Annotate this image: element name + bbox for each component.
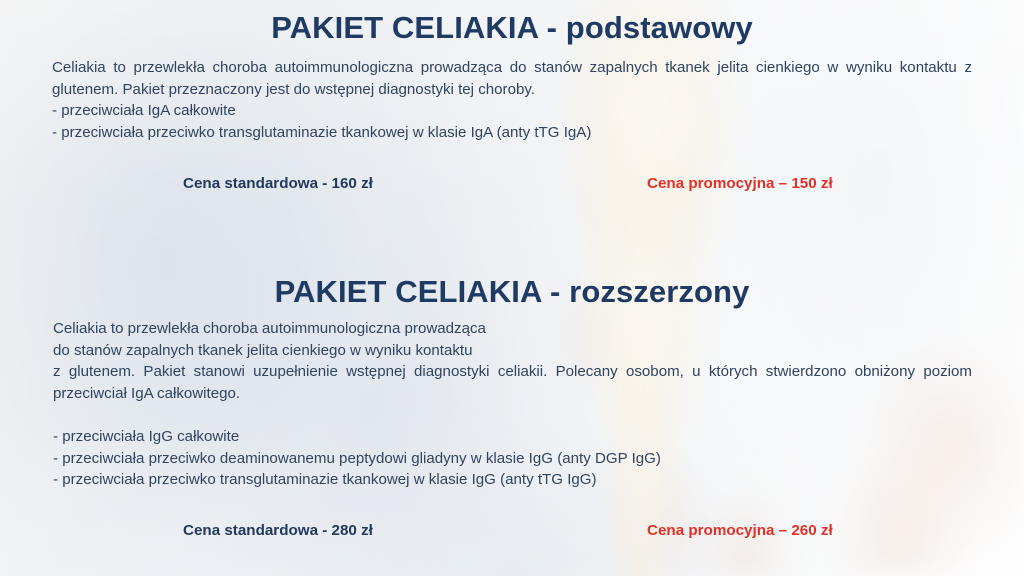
package-2-paragraph-rest: z glutenem. Pakiet stanowi uzupełnienie … — [53, 361, 972, 404]
package-2-paragraph-line-2: do stanów zapalnych tkanek jelita cienki… — [53, 340, 972, 362]
package-2-bullet-2: - przeciwciała przeciwko deaminowanemu p… — [53, 448, 853, 470]
package-1-bullet-1: - przeciwciała IgA całkowite — [52, 100, 972, 122]
package-2-price-row: Cena standardowa - 280 zł Cena promocyjn… — [0, 522, 1024, 544]
package-1-price-row: Cena standardowa - 160 zł Cena promocyjn… — [0, 175, 1024, 197]
package-2-title: PAKIET CELIAKIA - rozszerzony — [0, 274, 1024, 310]
package-1-price-standard: Cena standardowa - 160 zł — [183, 175, 373, 192]
package-2-bullet-list: - przeciwciała IgG całkowite - przeciwci… — [53, 426, 853, 491]
package-1-title: PAKIET CELIAKIA - podstawowy — [0, 10, 1024, 46]
package-1-paragraph: Celiakia to przewlekła choroba autoimmun… — [52, 57, 972, 100]
package-1-paragraph-line-1: Celiakia to przewlekła choroba autoimmun… — [52, 59, 892, 76]
package-1-description: Celiakia to przewlekła choroba autoimmun… — [52, 57, 972, 143]
package-2-description: Celiakia to przewlekła choroba autoimmun… — [53, 318, 972, 404]
slide-canvas: PAKIET CELIAKIA - podstawowy Celiakia to… — [0, 0, 1024, 576]
package-2-bullet-3: - przeciwciała przeciwko transglutaminaz… — [53, 469, 853, 491]
package-2-paragraph-line-1: Celiakia to przewlekła choroba autoimmun… — [53, 318, 972, 340]
slide-content: PAKIET CELIAKIA - podstawowy Celiakia to… — [0, 0, 1024, 576]
package-1-bullet-2: - przeciwciała przeciwko transglutaminaz… — [52, 122, 972, 144]
package-2-bullet-1: - przeciwciała IgG całkowite — [53, 426, 853, 448]
package-1-price-promo: Cena promocyjna – 150 zł — [647, 175, 833, 192]
package-2-paragraph-line-3: z glutenem. Pakiet stanowi uzupełnienie … — [53, 363, 915, 380]
package-2-price-promo: Cena promocyjna – 260 zł — [647, 522, 833, 539]
package-2-price-standard: Cena standardowa - 280 zł — [183, 522, 373, 539]
